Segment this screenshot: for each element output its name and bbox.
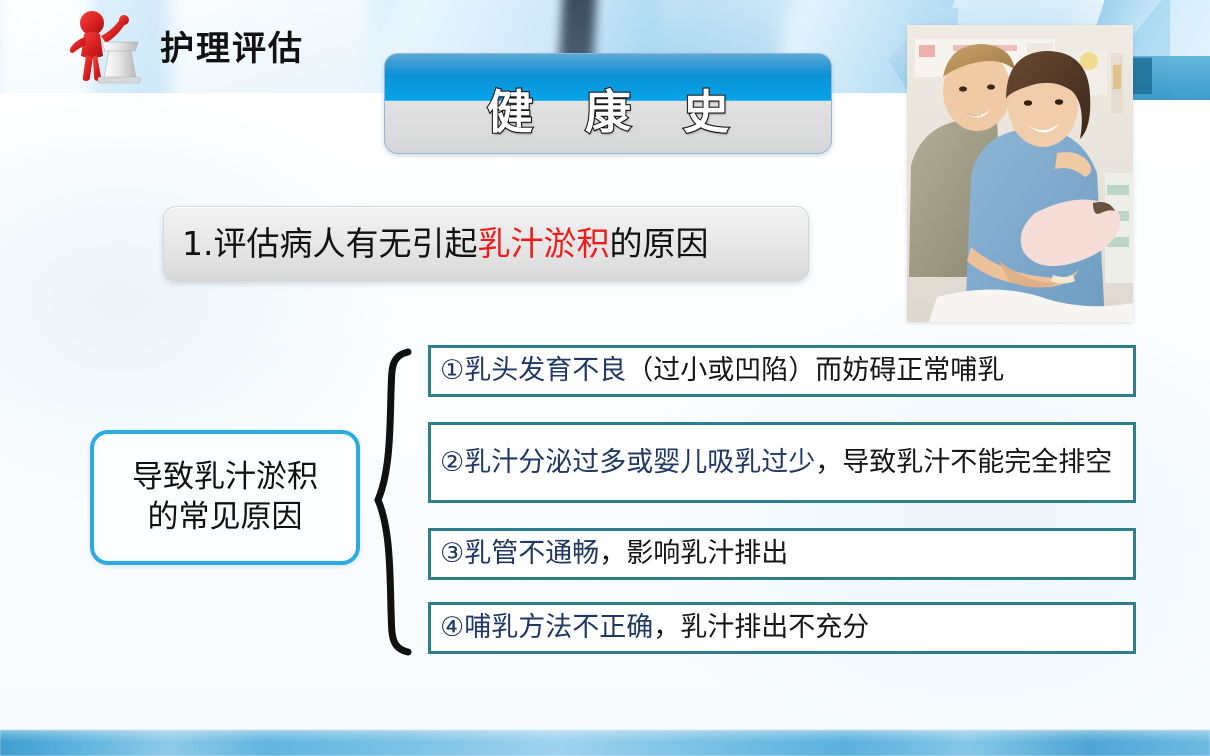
assessment-statement-text: 1.评估病人有无引起乳汁淤积的原因 [164, 227, 709, 260]
statement-highlight: 乳汁淤积 [478, 224, 610, 263]
cause-item-1-black: （过小或凹陷）而妨碍正常哺乳 [626, 355, 1004, 386]
slide-canvas: 🔒 ▁▄█ 护理评估 健 康 史 [0, 0, 1210, 756]
podium-speaker-icon [58, 6, 154, 92]
banner-gloss [385, 54, 831, 76]
cause-item-4-black: ，乳汁排出不充分 [653, 612, 869, 643]
cause-item-1-blue: ①乳头发育不良 [440, 355, 626, 386]
cause-item-4: ④哺乳方法不正确，乳汁排出不充分 [428, 602, 1136, 654]
cause-summary-line-2: 的常见原因 [148, 498, 303, 538]
section-title-text: 健 康 史 [385, 76, 831, 142]
cause-item-2-blue: ②乳汁分泌过多或婴儿吸乳过少 [440, 447, 815, 478]
page-title: 护理评估 [160, 32, 304, 66]
cause-item-2-text: ②乳汁分泌过多或婴儿吸乳过少，导致乳汁不能完全排空 [431, 447, 1120, 479]
cause-summary-line-1: 导致乳汁淤积 [132, 458, 318, 498]
cause-item-2-black: ，导致乳汁不能完全排空 [815, 447, 1112, 478]
cause-item-1: ①乳头发育不良（过小或凹陷）而妨碍正常哺乳 [428, 345, 1136, 397]
cause-summary-box: 导致乳汁淤积 的常见原因 [90, 430, 360, 565]
cause-item-2: ②乳汁分泌过多或婴儿吸乳过少，导致乳汁不能完全排空 [428, 422, 1136, 503]
statement-prefix: 1.评估病人有无引起 [182, 224, 478, 263]
couple-with-newborn-photo [907, 25, 1133, 322]
bottom-decorative-band [0, 730, 1210, 756]
cause-item-3-text: ③乳管不通畅，影响乳汁排出 [431, 538, 796, 570]
assessment-statement-box: 1.评估病人有无引起乳汁淤积的原因 [163, 206, 809, 281]
cause-item-3: ③乳管不通畅，影响乳汁排出 [428, 528, 1136, 580]
cause-item-3-blue: ③乳管不通畅 [440, 538, 599, 569]
section-title-banner: 健 康 史 [384, 53, 832, 154]
cause-item-3-black: ，影响乳汁排出 [599, 538, 788, 569]
cause-item-4-text: ④哺乳方法不正确，乳汁排出不充分 [431, 612, 877, 644]
cause-item-1-text: ①乳头发育不良（过小或凹陷）而妨碍正常哺乳 [431, 355, 1012, 387]
cause-item-4-blue: ④哺乳方法不正确 [440, 612, 653, 643]
curly-brace [368, 348, 414, 656]
statement-suffix: 的原因 [610, 224, 709, 263]
